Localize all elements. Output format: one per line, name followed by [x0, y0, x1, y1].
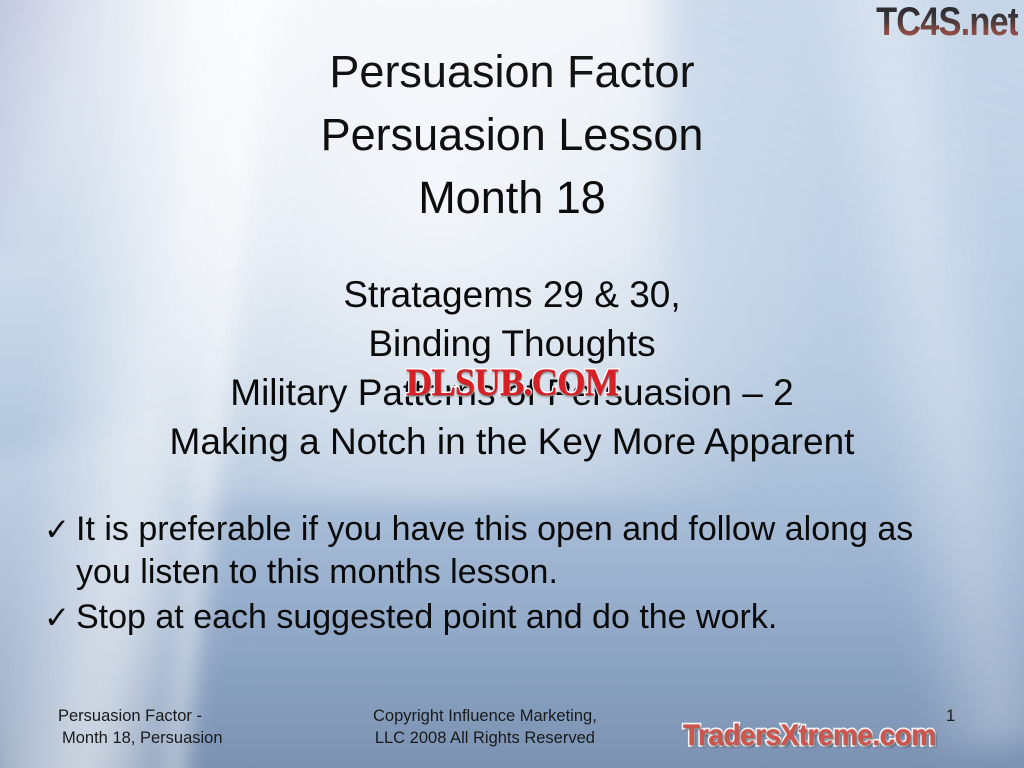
presentation-slide: TC4S.net Persuasion Factor Persuasion Le… [0, 0, 1024, 768]
bullet-list: ✓ It is preferable if you have this open… [44, 508, 964, 641]
brand-logo-tc4s: TC4S.net [876, 2, 1018, 42]
list-item: ✓ It is preferable if you have this open… [44, 508, 964, 594]
page-number: 1 [946, 706, 955, 726]
title-line-1: Persuasion Factor [0, 40, 1024, 103]
watermark-dlsub: DLSUB.COM [406, 363, 619, 402]
footer-copyright-line-1: Copyright Influence Marketing, [373, 705, 597, 727]
footer-left: Persuasion Factor - Month 18, Persuasion [58, 705, 223, 749]
footer-copyright-line-2: LLC 2008 All Rights Reserved [373, 727, 597, 749]
slide-title: Persuasion Factor Persuasion Lesson Mont… [0, 40, 1024, 229]
subtitle-line-4: Making a Notch in the Key More Apparent [0, 417, 1024, 466]
footer-left-line-2: Month 18, Persuasion [58, 727, 223, 749]
footer-copyright: Copyright Influence Marketing, LLC 2008 … [373, 705, 597, 749]
list-item: ✓ Stop at each suggested point and do th… [44, 596, 964, 639]
title-line-3: Month 18 [0, 166, 1024, 229]
bullet-text-2: Stop at each suggested point and do the … [76, 596, 964, 639]
subtitle-line-1: Stratagems 29 & 30, [0, 270, 1024, 319]
title-line-2: Persuasion Lesson [0, 103, 1024, 166]
checkmark-icon: ✓ [44, 508, 76, 551]
bullet-text-1: It is preferable if you have this open a… [76, 508, 964, 594]
footer-left-line-1: Persuasion Factor - [58, 705, 223, 727]
checkmark-icon: ✓ [44, 596, 76, 639]
brand-logo-tradersxtreme: TradersXtreme.com [683, 721, 936, 751]
